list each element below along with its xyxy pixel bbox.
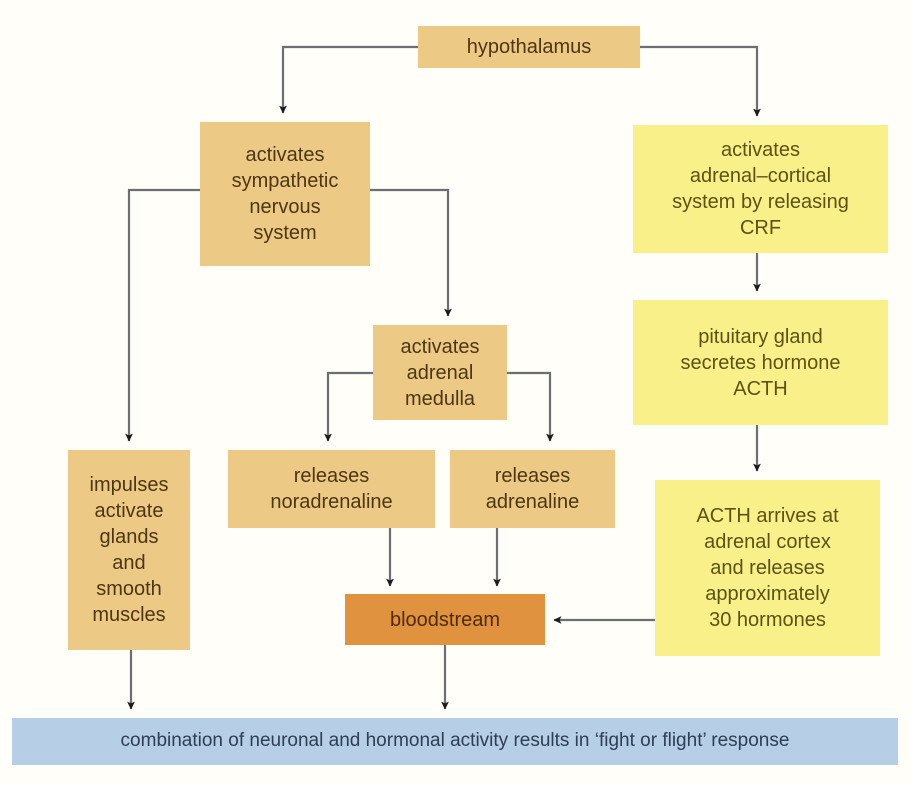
- edge-adrenal-medulla-to-adrenaline: [507, 373, 550, 441]
- node-activates-sympathetic-nervous-system[interactable]: activates sympathetic nervous system: [200, 122, 370, 266]
- node-impulses-activate-glands-and-smooth-muscles[interactable]: impulses activate glands and smooth musc…: [68, 450, 190, 650]
- node-activates-adrenal-medulla[interactable]: activates adrenal medulla: [373, 325, 507, 420]
- edge-sympathetic-to-adrenal-medulla: [370, 190, 448, 316]
- edge-hypothalamus-to-sympathetic: [283, 47, 418, 113]
- node-acth-arrives-at-adrenal-cortex[interactable]: ACTH arrives at adrenal cortex and relea…: [655, 480, 880, 656]
- node-releases-adrenaline[interactable]: releases adrenaline: [450, 450, 615, 528]
- flowchart-canvas: hypothalamus activates sympathetic nervo…: [0, 0, 911, 785]
- node-fight-or-flight-response[interactable]: combination of neuronal and hormonal act…: [12, 718, 898, 765]
- node-hypothalamus[interactable]: hypothalamus: [418, 26, 640, 68]
- node-bloodstream[interactable]: bloodstream: [345, 594, 545, 645]
- edge-sympathetic-to-impulses: [129, 190, 200, 441]
- edge-adrenal-medulla-to-noradrenaline: [328, 373, 373, 441]
- node-pituitary-gland-secretes-acth[interactable]: pituitary gland secretes hormone ACTH: [633, 300, 888, 425]
- edge-hypothalamus-to-adrenal-cortical: [640, 47, 757, 116]
- node-releases-noradrenaline[interactable]: releases noradrenaline: [228, 450, 435, 528]
- node-activates-adrenal-cortical-system[interactable]: activates adrenal–cortical system by rel…: [633, 125, 888, 253]
